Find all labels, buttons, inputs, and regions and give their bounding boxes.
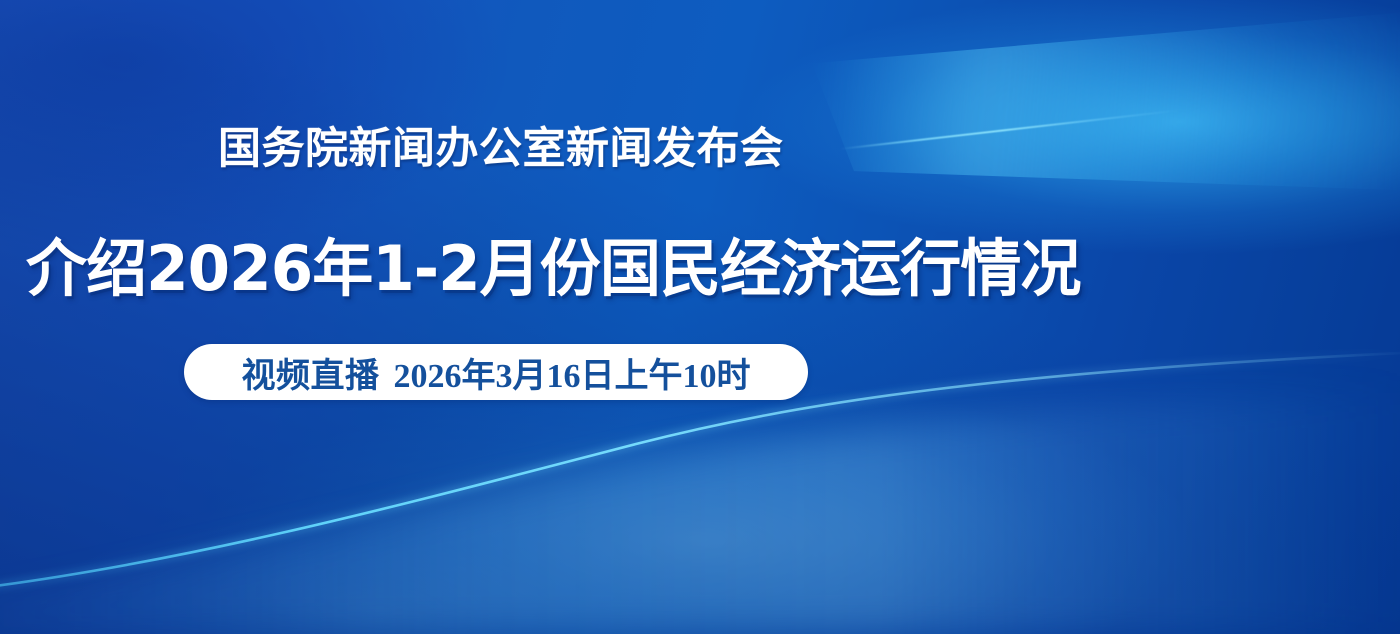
live-badge-label: 视频直播 — [242, 348, 380, 397]
live-badge-datetime: 2026年3月16日上午10时 — [394, 348, 751, 397]
press-conference-banner: 国务院新闻办公室新闻发布会 介绍2026年1-2月份国民经济运行情况 视频直播 … — [0, 0, 1400, 634]
page-title: 介绍2026年1-2月份国民经济运行情况 — [26, 236, 1081, 301]
live-broadcast-badge[interactable]: 视频直播 2026年3月16日上午10时 — [184, 344, 808, 400]
banner-content: 国务院新闻办公室新闻发布会 介绍2026年1-2月份国民经济运行情况 视频直播 … — [0, 0, 1400, 634]
organization-title: 国务院新闻办公室新闻发布会 — [218, 126, 784, 174]
